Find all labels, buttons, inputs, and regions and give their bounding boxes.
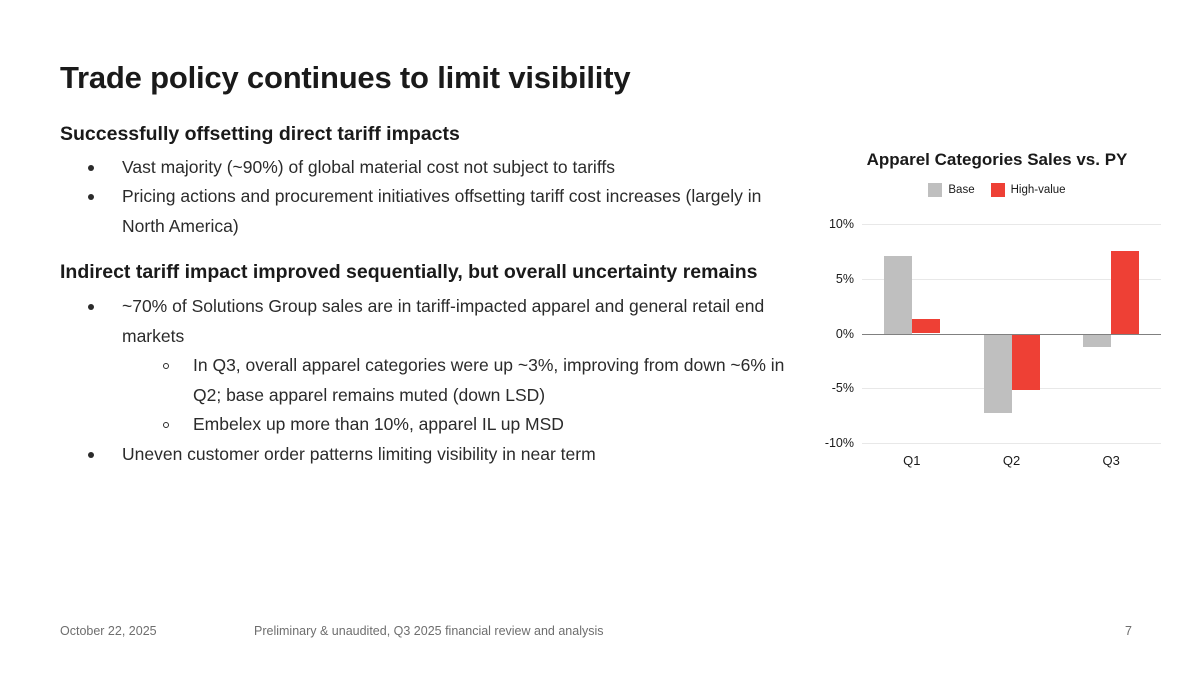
bullet-circle-icon — [163, 363, 169, 369]
bullet-text: Uneven customer order patterns limiting … — [122, 444, 596, 464]
zero-line: 0% — [862, 334, 1161, 335]
page-number: 7 — [1125, 624, 1132, 638]
bullet-dot-icon — [88, 165, 94, 171]
legend-item-high-value: High-value — [991, 183, 1066, 197]
bullet-text: Pricing actions and procurement initiati… — [122, 186, 761, 236]
bar-chart: Apparel Categories Sales vs. PY Base Hig… — [806, 150, 1188, 480]
x-axis-tick-label: Q1 — [903, 453, 920, 468]
bullet-text: In Q3, overall apparel categories were u… — [193, 355, 784, 405]
bullet-dot-icon — [88, 452, 94, 458]
bullet-circle-icon — [163, 422, 169, 428]
footer-date: October 22, 2025 — [60, 624, 157, 638]
bullet-text: Vast majority (~90%) of global material … — [122, 157, 615, 177]
bar-q2-base — [984, 334, 1012, 414]
bar-q3-base — [1083, 334, 1111, 347]
gridline: -10% — [862, 443, 1161, 444]
y-axis-tick-label: -5% — [832, 381, 854, 395]
slide-body: Successfully offsetting direct tariff im… — [60, 120, 800, 478]
list-item: Pricing actions and procurement initiati… — [60, 182, 800, 241]
bullet-list-1: Vast majority (~90%) of global material … — [60, 153, 800, 242]
gridline: 10% — [862, 224, 1161, 225]
legend-label-high-value: High-value — [1011, 184, 1066, 196]
x-axis-tick-label: Q3 — [1102, 453, 1119, 468]
bar-q1-high-value — [912, 319, 940, 333]
bar-q1-base — [884, 256, 912, 334]
bar-q2-high-value — [1012, 334, 1040, 391]
y-axis-tick-label: 10% — [829, 217, 854, 231]
list-item: Vast majority (~90%) of global material … — [60, 153, 800, 183]
legend-swatch-base — [928, 183, 942, 197]
bullet-list-2: ~70% of Solutions Group sales are in tar… — [60, 292, 800, 469]
legend-item-base: Base — [928, 183, 974, 197]
bar-q3-high-value — [1111, 251, 1139, 333]
y-axis-tick-label: -10% — [825, 436, 854, 450]
footer-note: Preliminary & unaudited, Q3 2025 financi… — [254, 624, 604, 638]
legend-swatch-high-value — [991, 183, 1005, 197]
y-axis-tick-label: 0% — [836, 327, 854, 341]
chart-legend: Base High-value — [806, 183, 1188, 197]
slide-canvas: Trade policy continues to limit visibili… — [0, 0, 1200, 675]
legend-label-base: Base — [948, 184, 974, 196]
section-heading-1: Successfully offsetting direct tariff im… — [60, 120, 800, 150]
x-axis-tick-label: Q2 — [1003, 453, 1020, 468]
chart-title: Apparel Categories Sales vs. PY — [806, 150, 1188, 170]
bullet-text: Embelex up more than 10%, apparel IL up … — [193, 414, 564, 434]
bullet-dot-icon — [88, 194, 94, 200]
plot-area: 10%5%0%-5%-10%Q1Q2Q3 — [862, 224, 1161, 443]
list-item: Embelex up more than 10%, apparel IL up … — [60, 410, 800, 440]
list-item: In Q3, overall apparel categories were u… — [60, 351, 800, 410]
section-heading-2: Indirect tariff impact improved sequenti… — [60, 258, 800, 288]
y-axis-tick-label: 5% — [836, 272, 854, 286]
list-item: ~70% of Solutions Group sales are in tar… — [60, 292, 800, 351]
bullet-dot-icon — [88, 304, 94, 310]
list-item: Uneven customer order patterns limiting … — [60, 440, 800, 470]
page-title: Trade policy continues to limit visibili… — [60, 60, 630, 96]
bullet-text: ~70% of Solutions Group sales are in tar… — [122, 296, 764, 346]
